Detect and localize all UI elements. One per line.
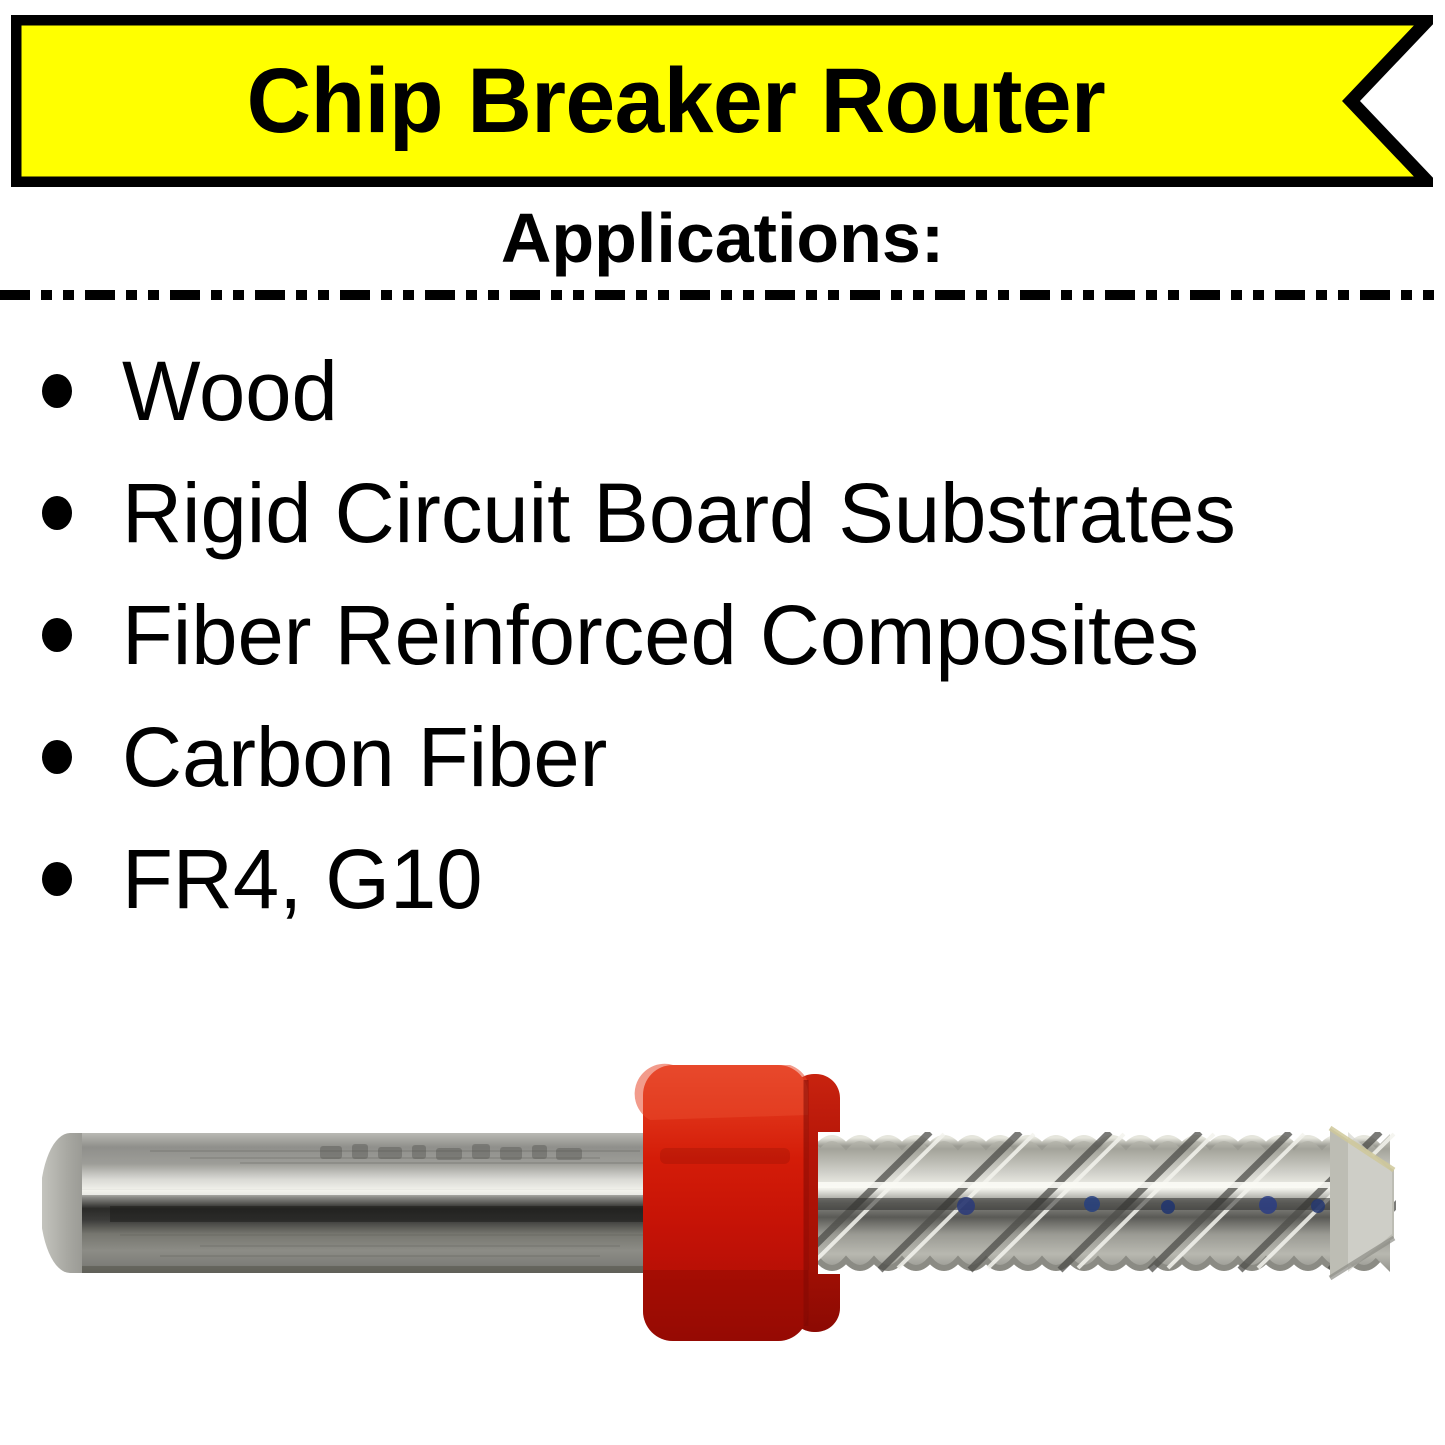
list-item-label: Carbon Fiber	[122, 715, 607, 799]
applications-heading: Applications:	[0, 196, 1445, 280]
list-item: Fiber Reinforced Composites	[0, 574, 1445, 696]
bullet-point-icon	[42, 618, 72, 652]
title-banner: Chip Breaker Router	[11, 15, 1433, 187]
section-divider	[0, 290, 1445, 300]
list-item: Carbon Fiber	[0, 696, 1445, 818]
dash-dot-line	[0, 290, 1445, 300]
bullet-point-icon	[42, 862, 72, 896]
list-item-label: Rigid Circuit Board Substrates	[122, 471, 1236, 555]
bullet-point-icon	[42, 496, 72, 530]
bullet-point-icon	[42, 374, 72, 408]
list-item: Wood	[0, 330, 1445, 452]
banner-title: Chip Breaker Router	[31, 15, 1321, 187]
list-item-label: Wood	[122, 349, 338, 433]
router-bit-illustration	[0, 1020, 1445, 1400]
list-item-label: FR4, G10	[122, 837, 482, 921]
applications-list: Wood Rigid Circuit Board Substrates Fibe…	[0, 330, 1445, 940]
list-item-label: Fiber Reinforced Composites	[122, 593, 1199, 677]
list-item: FR4, G10	[0, 818, 1445, 940]
bullet-point-icon	[42, 740, 72, 774]
product-image	[0, 1020, 1445, 1400]
product-infographic: Chip Breaker Router Applications: Wood R…	[0, 0, 1445, 1445]
list-item: Rigid Circuit Board Substrates	[0, 452, 1445, 574]
router-shank	[40, 1133, 702, 1273]
red-depth-collar	[635, 1064, 840, 1341]
